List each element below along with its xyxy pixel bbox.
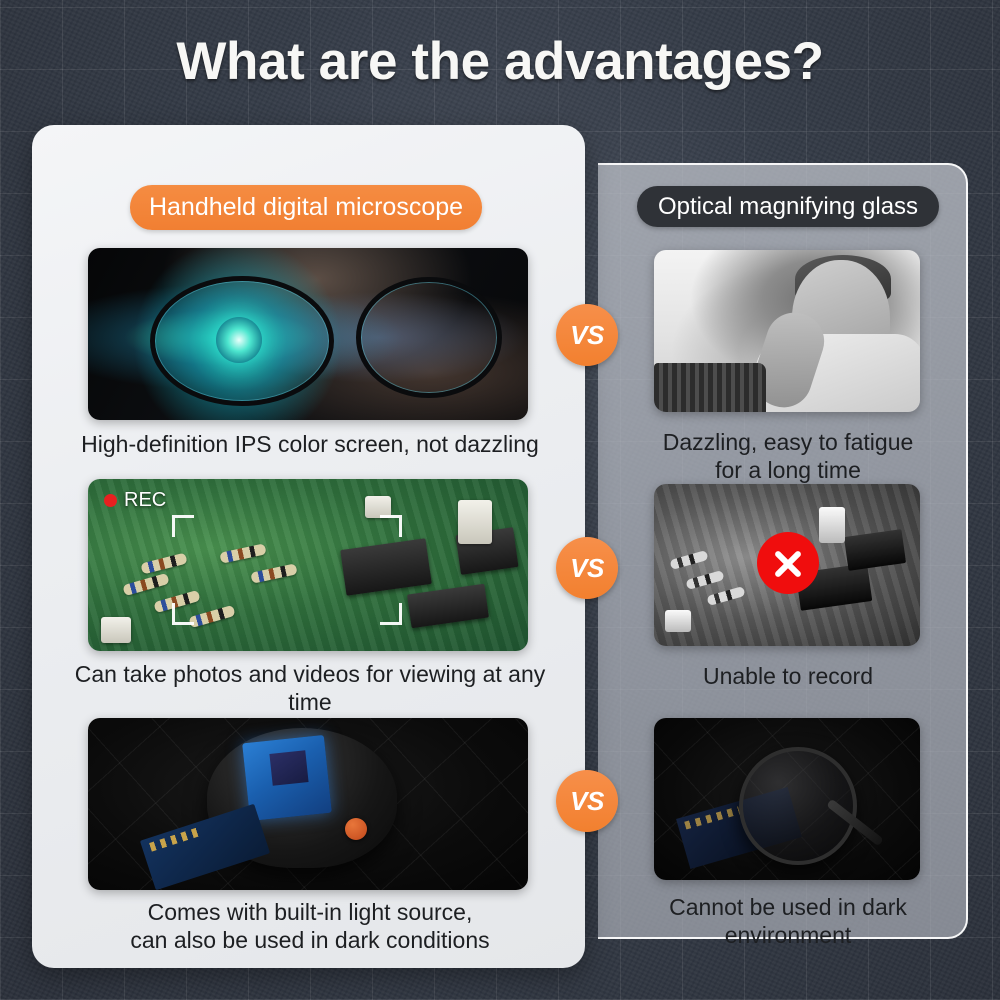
competitor-caption-3-line1: Cannot be used in dark <box>620 893 956 921</box>
product-caption-1: High-definition IPS color screen, not da… <box>60 430 560 458</box>
product-caption-3-line2: can also be used in dark conditions <box>60 926 560 954</box>
ic-chip <box>407 584 489 629</box>
product-image-light-source <box>88 718 528 890</box>
competitor-caption-3: Cannot be used in dark environment <box>620 893 956 949</box>
competitor-caption-1: Dazzling, easy to fatigue for a long tim… <box>620 428 956 484</box>
focus-corner-bl <box>172 603 194 625</box>
focus-corner-tr <box>380 515 402 537</box>
resistor <box>685 570 724 590</box>
handheld-microscope-photo <box>88 718 528 890</box>
screen-chip-detail <box>269 751 308 787</box>
tired-person-photo <box>654 250 920 412</box>
product-image-recording: REC <box>88 479 528 651</box>
product-image-ips-screen <box>88 248 528 420</box>
competitor-caption-3-line2: environment <box>620 921 956 949</box>
rec-indicator: REC <box>104 489 166 512</box>
product-header-pill: Handheld digital microscope <box>130 185 482 230</box>
eye-glasses-photo <box>88 248 528 420</box>
film-capacitor <box>101 617 131 643</box>
film-capacitor <box>458 500 492 544</box>
product-caption-3-line1: Comes with built-in light source, <box>60 898 560 926</box>
rec-label: REC <box>124 489 166 512</box>
product-caption-3: Comes with built-in light source, can al… <box>60 898 560 954</box>
unavailable-x-badge <box>757 532 819 594</box>
record-dot-icon <box>104 494 117 507</box>
competitor-image-dark-env <box>654 718 920 880</box>
focus-corner-tl <box>172 515 194 537</box>
film-capacitor <box>819 507 845 543</box>
competitor-caption-2: Unable to record <box>620 662 956 690</box>
vs-badge-3: VS <box>556 770 618 832</box>
competitor-caption-1-line2: for a long time <box>620 456 956 484</box>
infographic-page: What are the advantages? Handheld digita… <box>0 0 1000 1000</box>
workbench <box>654 363 766 412</box>
product-caption-2: Can take photos and videos for viewing a… <box>60 660 560 716</box>
color-circuit-board-photo: REC <box>88 479 528 651</box>
ic-chip <box>843 529 905 571</box>
iris <box>216 317 262 363</box>
competitor-image-fatigue <box>654 250 920 412</box>
vs-badge-2: VS <box>556 537 618 599</box>
competitor-caption-1-line1: Dazzling, easy to fatigue <box>620 428 956 456</box>
vs-badge-1: VS <box>556 304 618 366</box>
film-capacitor <box>665 610 691 632</box>
resistor <box>123 573 170 596</box>
focus-corner-br <box>380 603 402 625</box>
page-title: What are the advantages? <box>0 31 1000 92</box>
resistor <box>707 586 746 606</box>
magnifying-glass-photo <box>654 718 920 880</box>
focus-bracket-overlay <box>172 515 402 625</box>
competitor-header-pill: Optical magnifying glass <box>637 186 939 227</box>
device-power-button <box>345 818 367 840</box>
resistor <box>669 550 708 570</box>
circuit-board <box>140 804 270 890</box>
glasses-lens-right <box>356 277 501 397</box>
